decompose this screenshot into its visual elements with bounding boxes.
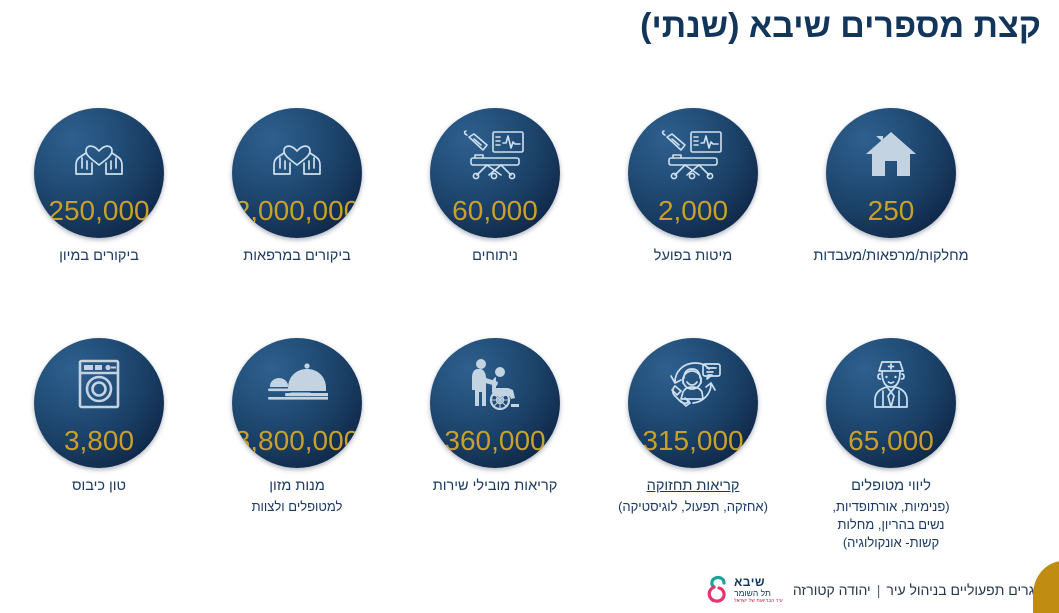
- stat-circle[interactable]: 250: [826, 108, 956, 238]
- stat-value: 315,000: [628, 426, 758, 456]
- stat-circle[interactable]: 60,000: [430, 108, 560, 238]
- stat-caption: ביקורים במיון: [6, 247, 192, 266]
- logo-wordmark: שיבא תל השומר עיר הבריאות של ישראל: [734, 576, 783, 604]
- hands-heart-icon: [68, 126, 130, 182]
- stat-cell[interactable]: 3,800 טון כיבוס: [0, 338, 198, 496]
- page-title: קצת מספרים שיבא (שנתי): [640, 2, 1041, 50]
- stat-subcaption: למטופלים ולצוות: [204, 498, 390, 516]
- stat-caption-line: ביקורים במיון: [6, 247, 192, 266]
- stat-subcaption-line: קשות- אונקולוגיה): [798, 534, 984, 552]
- stat-circle[interactable]: 250,000: [34, 108, 164, 238]
- stat-subcaption: (פנימיות, אורתופדיות, נשים בהריון, מחלות…: [798, 498, 984, 552]
- nurse-icon: [865, 356, 917, 412]
- stat-value: 60,000: [430, 196, 560, 226]
- operating-table-icon: [463, 126, 527, 182]
- stat-cell[interactable]: 3,800,000 מנות מזון למטופלים ולצוות: [198, 338, 396, 516]
- stat-circle[interactable]: 2,000: [628, 108, 758, 238]
- stat-value: 360,000: [430, 426, 560, 456]
- stats-row-2: 3,800 טון כיבוס: [0, 338, 1059, 568]
- stat-value: 65,000: [826, 426, 956, 456]
- stat-circle[interactable]: 65,000: [826, 338, 956, 468]
- stat-circle[interactable]: 315,000: [628, 338, 758, 468]
- stat-value: 250: [826, 196, 956, 226]
- washing-machine-icon: [76, 356, 122, 412]
- logo-name: שיבא: [734, 576, 765, 588]
- stat-circle[interactable]: 360,000: [430, 338, 560, 468]
- stat-caption: מחלקות/מרפאות/מעבדות: [798, 247, 984, 266]
- stat-subcaption-line: (אחזקה, תפעול, לוגיסטיקה): [600, 498, 786, 516]
- stat-cell[interactable]: 2,000,000 ביקורים במרפאות: [198, 108, 396, 266]
- logo-s-mark: [704, 575, 730, 605]
- footer-separator: |: [871, 582, 887, 598]
- stat-value: 250,000: [34, 196, 164, 226]
- stat-caption-line: מיטות בפועל: [600, 247, 786, 266]
- stat-cell[interactable]: 315,000 קריאות תחזוקה (אחזקה, תפעול, לוג…: [594, 338, 792, 516]
- stat-caption-line: מחלקות/מרפאות/מעבדות: [798, 247, 984, 266]
- logo-subname: תל השומר: [734, 589, 771, 598]
- logo-tagline: עיר הבריאות של ישראל: [734, 599, 783, 604]
- stats-row-1: 250,000 ביקורים במיון: [0, 108, 1059, 338]
- house-icon: [863, 126, 919, 182]
- stats-grid: 250,000 ביקורים במיון: [0, 108, 1059, 568]
- stat-caption: מנות מזון: [204, 477, 390, 496]
- stat-caption: קריאות תחזוקה: [600, 477, 786, 496]
- stat-circle[interactable]: 3,800,000: [232, 338, 362, 468]
- stat-subcaption-line: (פנימיות, אורתופדיות,: [798, 498, 984, 516]
- stat-subcaption-line: למטופלים ולצוות: [204, 498, 390, 516]
- stat-circle[interactable]: 3,800: [34, 338, 164, 468]
- stat-caption-line: ליווי מטופלים: [798, 477, 984, 496]
- stat-value: 3,800,000: [232, 426, 362, 456]
- stat-caption-line: מנות מזון: [204, 477, 390, 496]
- stat-value: 2,000,000: [232, 196, 362, 226]
- stat-circle[interactable]: 2,000,000: [232, 108, 362, 238]
- stat-caption: ליווי מטופלים: [798, 477, 984, 496]
- hospital-bed-icon: [661, 126, 725, 182]
- stat-cell[interactable]: 65,000 ליווי מטופלים (פנימיות, אורתופדיו…: [792, 338, 990, 552]
- stat-cell[interactable]: 60,000 ניתוחים: [396, 108, 594, 266]
- stat-caption: ביקורים במרפאות: [204, 247, 390, 266]
- footer-credits: אתגרים תפעוליים בניהול עיר|יהודה קטורזה: [793, 582, 1059, 598]
- stat-caption: קריאות מובילי שירות: [402, 477, 588, 496]
- stat-cell[interactable]: 250 מחלקות/מרפאות/מעבדות: [792, 108, 990, 266]
- wheelchair-attendant-icon: [467, 356, 523, 412]
- stat-cell[interactable]: 250,000 ביקורים במיון: [0, 108, 198, 266]
- stat-caption: ניתוחים: [402, 247, 588, 266]
- stat-caption-line: טון כיבוס: [6, 477, 192, 496]
- stat-cell[interactable]: 2,000 מיטות בפועל: [594, 108, 792, 266]
- stat-caption-line: ביקורים במרפאות: [204, 247, 390, 266]
- stat-subcaption: (אחזקה, תפעול, לוגיסטיקה): [600, 498, 786, 516]
- stat-caption-line: ניתוחים: [402, 247, 588, 266]
- footer-topic: אתגרים תפעוליים בניהול עיר: [886, 582, 1053, 598]
- call-center-icon: [661, 356, 725, 412]
- footer-presenter: יהודה קטורזה: [793, 582, 871, 598]
- stat-cell[interactable]: 360,000 קריאות מובילי שירות: [396, 338, 594, 496]
- stat-subcaption-line: נשים בהריון, מחלות: [798, 516, 984, 534]
- stat-caption-line: קריאות מובילי שירות: [402, 477, 588, 496]
- footer: שיבא תל השומר עיר הבריאות של ישראל אתגרי…: [0, 567, 1059, 613]
- stat-caption-line: קריאות תחזוקה: [600, 477, 786, 496]
- stat-value: 3,800: [34, 426, 164, 456]
- stat-caption: טון כיבוס: [6, 477, 192, 496]
- stat-value: 2,000: [628, 196, 758, 226]
- hands-heart-icon: [266, 126, 328, 182]
- sheba-logo: שיבא תל השומר עיר הבריאות של ישראל: [698, 575, 783, 605]
- food-cloche-icon: [266, 356, 328, 412]
- stat-caption: מיטות בפועל: [600, 247, 786, 266]
